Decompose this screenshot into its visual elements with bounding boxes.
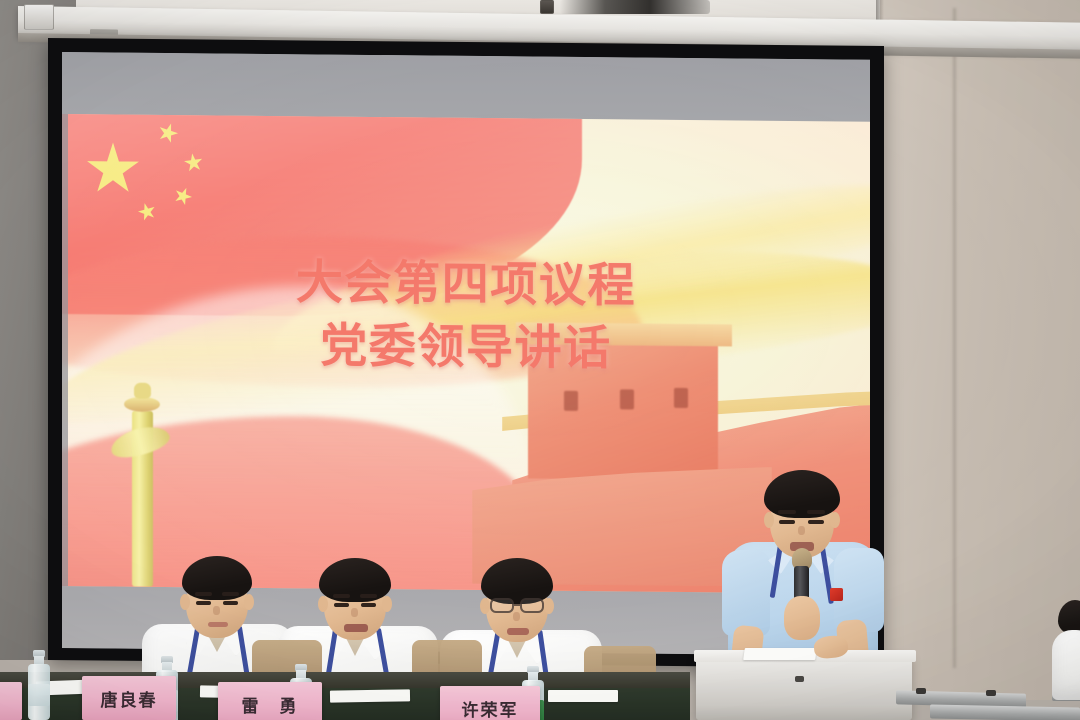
speaker-nose bbox=[798, 526, 805, 535]
speaker-sleeve-left bbox=[722, 550, 770, 636]
placard-label-2: 雷 勇 bbox=[241, 692, 298, 717]
conference-photo-scene: 大会第四项议程 党委领导讲话 bbox=[0, 0, 1080, 720]
wall-seam bbox=[953, 8, 956, 668]
panelist-3-glasses-bridge bbox=[514, 604, 520, 606]
speaker-party-pin bbox=[830, 588, 843, 601]
panelist-1-nose bbox=[213, 606, 220, 615]
name-placard-partial-left bbox=[0, 682, 22, 720]
panelist-3-ear-right bbox=[544, 598, 554, 614]
table-papers-4 bbox=[548, 690, 618, 702]
speaker-brow-left bbox=[778, 510, 796, 514]
panelist-3-mouth bbox=[507, 628, 529, 635]
watchtower-window-1 bbox=[564, 391, 578, 411]
panelist-2-brow-right bbox=[360, 594, 377, 598]
table-papers-3 bbox=[330, 689, 410, 702]
podium bbox=[696, 654, 912, 720]
speaker-eye-right bbox=[808, 520, 824, 524]
watchtower-window-2 bbox=[620, 389, 634, 409]
partial-person-right-edge bbox=[1052, 600, 1080, 700]
panelist-1-ear-left bbox=[180, 594, 190, 610]
panelist-1-brow-right bbox=[222, 592, 239, 596]
placard-label-3: 许荣军 bbox=[461, 696, 518, 720]
slide-title-block: 大会第四项议程 党委领导讲话 bbox=[62, 252, 870, 385]
panelist-2-ear-right bbox=[382, 596, 392, 612]
panelist-2-eye-left bbox=[334, 603, 349, 607]
bottle-label bbox=[28, 684, 50, 706]
desk-rail-nub-1 bbox=[916, 688, 926, 694]
watchtower-window-3 bbox=[674, 388, 688, 408]
desk-rail-2 bbox=[930, 704, 1080, 720]
panelist-3-glasses-right-lens bbox=[520, 598, 544, 613]
panelist-2-mouth bbox=[344, 624, 368, 632]
panelist-2-nose bbox=[351, 608, 358, 617]
panelist-1-brow-left bbox=[195, 592, 212, 596]
speaker-brow-right bbox=[807, 510, 825, 514]
panelist-3-ear-left bbox=[480, 598, 490, 614]
screen-unlit-top bbox=[62, 52, 870, 122]
panelist-2-eye-right bbox=[361, 603, 376, 607]
panelist-1-ear-right bbox=[244, 594, 254, 610]
speaker-hair bbox=[764, 470, 840, 518]
screen-mount-bracket-center bbox=[540, 0, 554, 14]
speaker-eye-left bbox=[779, 520, 795, 524]
huabiao-beast bbox=[134, 383, 151, 399]
podium-speech-paper bbox=[743, 648, 817, 660]
panelist-3-hair bbox=[481, 558, 553, 604]
placard-label-1: 唐良春 bbox=[100, 686, 157, 711]
panelist-1-mouth bbox=[208, 622, 228, 627]
name-placard-lei-yong: 雷 勇 bbox=[218, 682, 322, 720]
slide-title-line-1: 大会第四项议程 bbox=[62, 252, 870, 319]
screen-mount-bracket-left bbox=[24, 4, 54, 30]
partial-person-shirt bbox=[1052, 630, 1080, 700]
panelist-2-ear-left bbox=[318, 596, 328, 612]
panelist-3-glasses-left-lens bbox=[490, 598, 514, 613]
partial-person-hair bbox=[1058, 600, 1080, 634]
speaker-hand-on-mic bbox=[784, 596, 820, 640]
panelist-1-eye-left bbox=[196, 601, 211, 605]
water-bottle-1[interactable] bbox=[28, 650, 50, 720]
panelist-1-hair bbox=[182, 556, 252, 600]
panelist-2-hair bbox=[319, 558, 391, 602]
panelist-2-brow-left bbox=[333, 594, 350, 598]
desk-rail-nub-2 bbox=[986, 690, 996, 696]
ceiling-cable-bundle bbox=[560, 0, 710, 14]
speaker-ear-right bbox=[830, 512, 840, 528]
speaker-ear-left bbox=[764, 512, 774, 528]
panelist-1-eye-right bbox=[223, 601, 238, 605]
slide-title-line-2: 党委领导讲话 bbox=[62, 311, 870, 385]
name-placard-tang-liangchun: 唐良春 bbox=[82, 676, 176, 720]
huabiao-disc bbox=[124, 397, 160, 412]
name-placard-xu-rongjun: 许荣军 bbox=[440, 686, 540, 720]
podium-knob[interactable] bbox=[795, 676, 804, 682]
panelist-3-nose bbox=[513, 612, 520, 621]
